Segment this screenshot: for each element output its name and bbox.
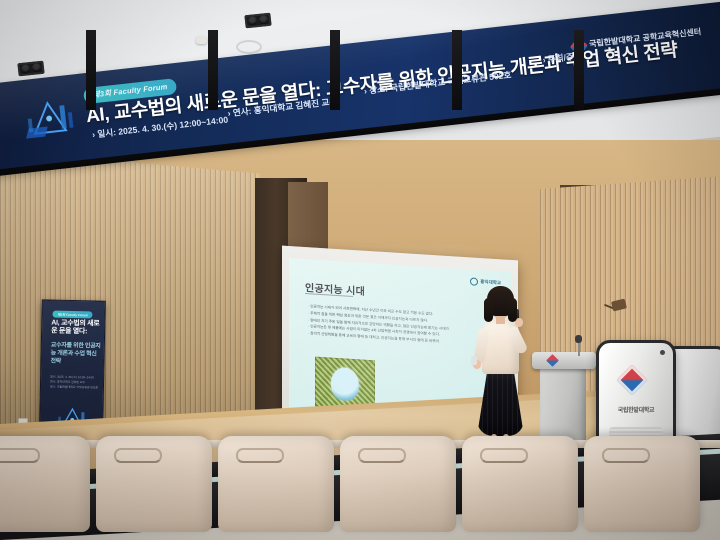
- ceiling-downlight-icon: [17, 61, 44, 77]
- audience-chair[interactable]: [340, 436, 456, 540]
- presenter-skirt-pleats: [477, 370, 524, 436]
- ceiling-sensor-icon: [196, 36, 207, 44]
- brain-icon: [331, 367, 359, 402]
- chair-handle: [480, 448, 528, 463]
- ceiling-downlight-icon: [244, 13, 271, 29]
- university-emblem-icon: [546, 354, 559, 367]
- air-purifier-label: 국립한밭대학교: [611, 405, 661, 414]
- audience-chair[interactable]: [462, 436, 578, 540]
- presenter-remote-icon: [471, 356, 477, 365]
- audience-chair[interactable]: [0, 436, 90, 540]
- chair-handle: [0, 448, 40, 463]
- standing-banner-meta-line: 장소: 국립한밭대학교 국제교류관 502호: [50, 384, 100, 390]
- standing-banner-title: AI, 교수법의 새로운 문을 열다:: [51, 320, 101, 338]
- chair-gap: [574, 30, 584, 110]
- chair-handle: [236, 448, 284, 463]
- chair-gap: [452, 30, 462, 110]
- microphone-icon: [575, 335, 582, 343]
- presenter-hair: [508, 298, 517, 322]
- standing-banner-subtitle: 교수자를 위한 인공지능 개론과 수업 혁신 전략: [50, 343, 100, 367]
- standing-banner-badge: 제3회 Faculty Forum: [52, 311, 93, 319]
- chair-gap: [208, 30, 218, 110]
- audience-chair[interactable]: [96, 436, 212, 540]
- status-indicator-icon: [660, 350, 665, 355]
- presenter-hair: [484, 298, 493, 322]
- standing-banner-meta: 일시: 2025. 4. 30.(수) 12:00~14:00 연사: 홍익대학…: [50, 375, 100, 391]
- chair-gap: [86, 30, 96, 110]
- lectern-top: [532, 352, 596, 369]
- ceiling-fixture-ring: [236, 40, 262, 54]
- audience-chair[interactable]: [218, 436, 334, 540]
- ai-emblem-icon: [17, 90, 81, 154]
- audience-chair[interactable]: [584, 436, 700, 540]
- university-emblem-icon: [616, 364, 647, 395]
- chair-handle: [358, 448, 406, 463]
- slide-logo-mark-icon: [470, 277, 478, 286]
- chair-handle: [114, 448, 162, 463]
- lecture-hall-photo: 제3회 Faculty Forum AI, 교수법의 새로운 문을 열다: 교수…: [0, 0, 720, 540]
- chair-handle: [602, 448, 650, 463]
- chair-gap: [330, 30, 340, 110]
